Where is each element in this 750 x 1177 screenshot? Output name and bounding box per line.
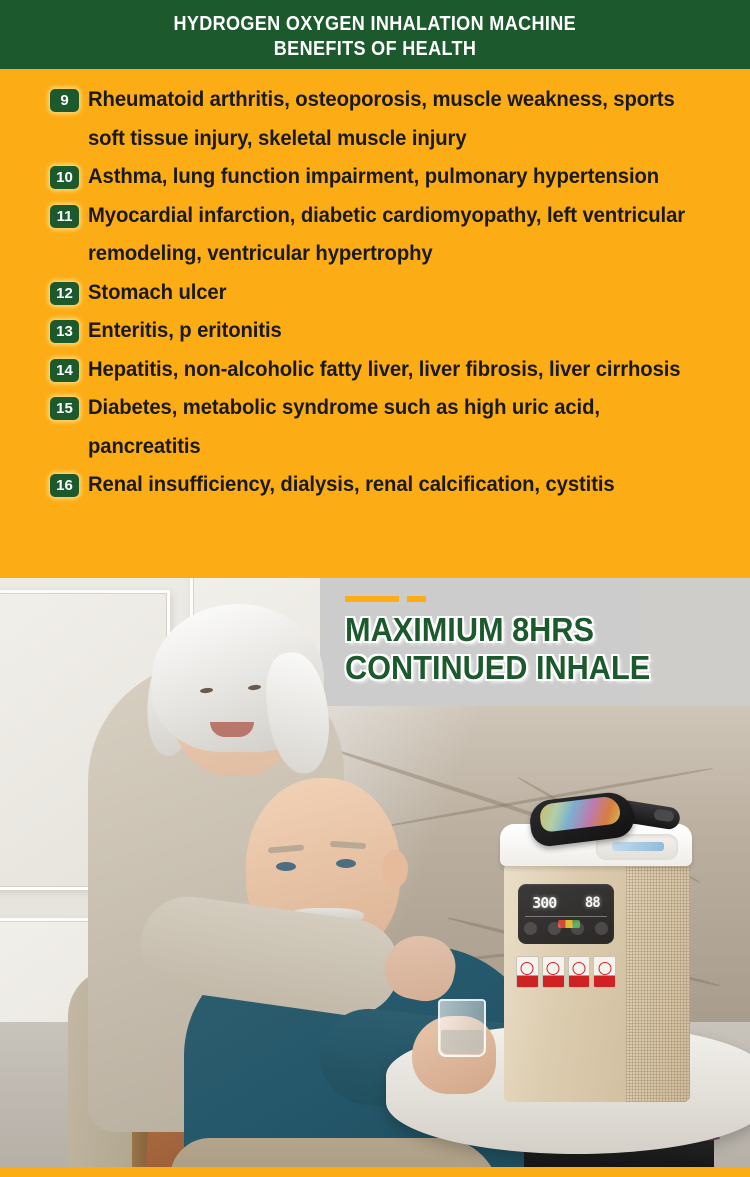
machine-body: 300 88 (504, 862, 626, 1102)
lifestyle-photo: MAXIMIUM 8HRS CONTINUED INHALE (0, 578, 750, 1172)
benefit-number-badge: 12 (50, 282, 79, 305)
man-eye-left (276, 862, 296, 871)
timer-button-icon[interactable] (571, 922, 584, 935)
headline-block: MAXIMIUM 8HRS CONTINUED INHALE (345, 596, 673, 687)
machine-control-panel[interactable]: 300 88 (518, 884, 614, 944)
benefit-text: Asthma, lung function impairment, pulmon… (88, 158, 659, 197)
settings-button-icon[interactable] (595, 922, 608, 935)
benefit-number-badge: 15 (50, 397, 79, 420)
benefit-number-badge: 14 (50, 359, 79, 382)
header-title-line-1: HYDROGEN OXYGEN INHALATION MACHINE (174, 11, 577, 36)
no-water-warning-icon (542, 956, 565, 988)
header-title-line-2: BENEFITS OF HEALTH (274, 36, 476, 61)
man-eye-right (336, 859, 356, 868)
benefits-list: 9 Rheumatoid arthritis, osteoporosis, mu… (0, 69, 750, 578)
benefit-text: Myocardial infarction, diabetic cardiomy… (88, 197, 686, 274)
flammable-warning-icon (593, 956, 616, 988)
no-smoking-warning-icon (568, 956, 591, 988)
benefit-text: Diabetes, metabolic syndrome such as hig… (88, 389, 686, 466)
display-timer-value: 88 (585, 895, 600, 911)
mode-button-icon[interactable] (548, 922, 561, 935)
benefit-text: Renal insufficiency, dialysis, renal cal… (88, 466, 615, 505)
benefit-text: Stomach ulcer (88, 274, 226, 313)
benefit-text: Hepatitis, non-alcoholic fatty liver, li… (88, 351, 680, 390)
hydrogen-inhalation-machine: 300 88 (500, 824, 692, 1102)
no-fire-warning-icon (516, 956, 539, 988)
bottom-accent-bar (0, 1167, 750, 1172)
list-item: 9 Rheumatoid arthritis, osteoporosis, mu… (50, 81, 732, 158)
panel-button-row[interactable] (524, 922, 608, 935)
headline-line-2: CONTINUED INHALE (345, 649, 650, 687)
product-infographic-page: HYDROGEN OXYGEN INHALATION MACHINE BENEF… (0, 0, 750, 1177)
headline-line-1: MAXIMIUM 8HRS (345, 611, 650, 649)
page-header: HYDROGEN OXYGEN INHALATION MACHINE BENEF… (0, 0, 750, 69)
dash-long-icon (345, 596, 399, 602)
display-flow-value: 300 (532, 894, 556, 912)
decorative-dashes (345, 596, 673, 602)
machine-display: 300 88 (518, 894, 614, 912)
list-item: 12 Stomach ulcer (50, 274, 732, 313)
benefit-text: Enteritis, p eritonitis (88, 312, 282, 351)
benefit-number-badge: 10 (50, 166, 79, 189)
list-item: 13 Enteritis, p eritonitis (50, 312, 732, 351)
inhalation-goggles (530, 790, 684, 846)
list-item: 16 Renal insufficiency, dialysis, renal … (50, 466, 732, 505)
benefit-number-badge: 9 (50, 89, 79, 112)
warning-sticker-row (516, 956, 616, 988)
benefit-text: Rheumatoid arthritis, osteoporosis, musc… (88, 81, 686, 158)
machine-vent-panel (626, 862, 690, 1102)
benefit-number-badge: 11 (50, 205, 79, 228)
list-item: 11 Myocardial infarction, diabetic cardi… (50, 197, 732, 274)
glass-liquid (441, 1030, 483, 1054)
benefit-number-badge: 13 (50, 320, 79, 343)
dash-short-icon (407, 596, 426, 602)
list-item: 14 Hepatitis, non-alcoholic fatty liver,… (50, 351, 732, 390)
list-item: 15 Diabetes, metabolic syndrome such as … (50, 389, 732, 466)
man-ear (382, 850, 408, 888)
power-button-icon[interactable] (524, 922, 537, 935)
panel-divider (525, 916, 607, 917)
benefit-number-badge: 16 (50, 474, 79, 497)
list-item: 10 Asthma, lung function impairment, pul… (50, 158, 732, 197)
